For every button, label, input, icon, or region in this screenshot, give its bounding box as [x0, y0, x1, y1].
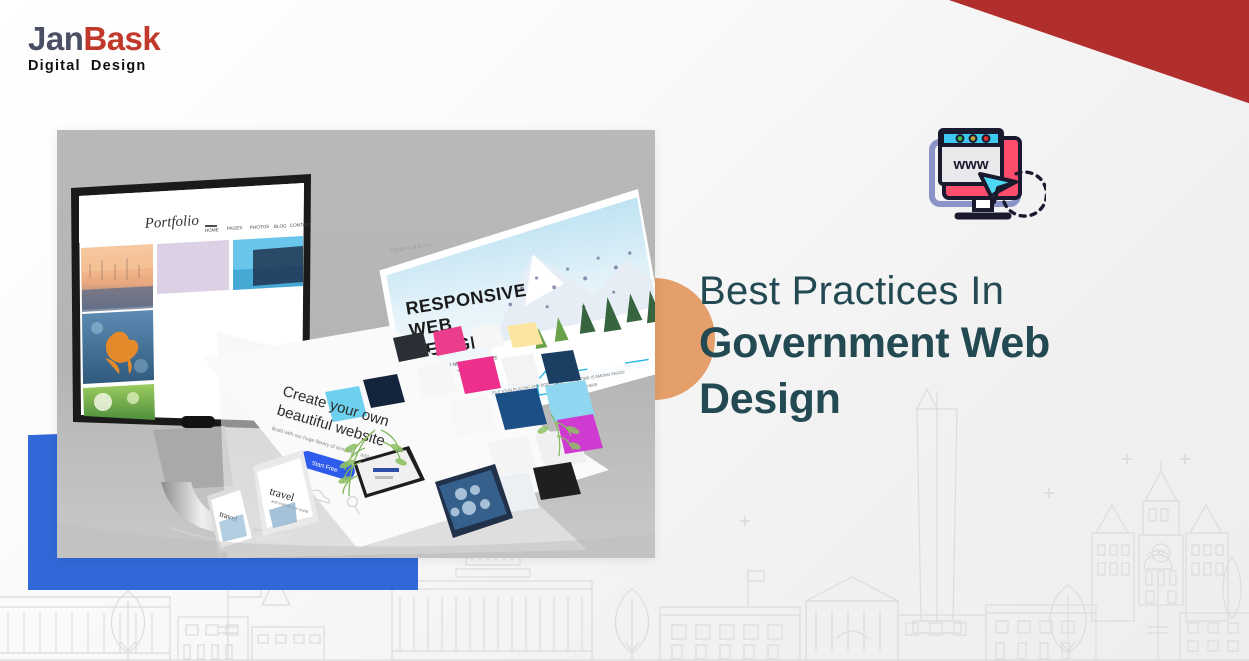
- www-text: www: [952, 156, 988, 173]
- brand-logo-jan: Jan: [28, 20, 83, 57]
- washington-monument: [913, 389, 961, 633]
- brand-logo[interactable]: JanBask Digital Design: [28, 22, 160, 74]
- red-diagonal-accent: [949, 0, 1249, 120]
- svg-text:BLOG: BLOG: [274, 223, 287, 229]
- svg-text:HOME: HOME: [205, 227, 219, 233]
- headline-line-2: Government Web: [699, 318, 1169, 370]
- headline-line-1: Best Practices In: [699, 268, 1169, 314]
- marketing-banner: JanBask Digital Design: [0, 0, 1249, 661]
- headline-block: Best Practices In Government Web Design: [699, 268, 1169, 426]
- hero-image: Portfolio HOME PAGES PHOTOS BLOG CONTACT: [57, 130, 655, 558]
- www-monitor-icon: www: [918, 124, 1046, 244]
- svg-text:Portfolio: Portfolio: [143, 213, 200, 232]
- brand-logo-bask: Bask: [83, 20, 160, 57]
- headline-line-3: Design: [699, 374, 1169, 426]
- brand-logo-wordmark: JanBask: [28, 22, 160, 55]
- old-post-office-tower: [1139, 461, 1183, 605]
- svg-text:PAGES: PAGES: [227, 225, 243, 231]
- brand-logo-tagline: Digital Design: [28, 59, 160, 74]
